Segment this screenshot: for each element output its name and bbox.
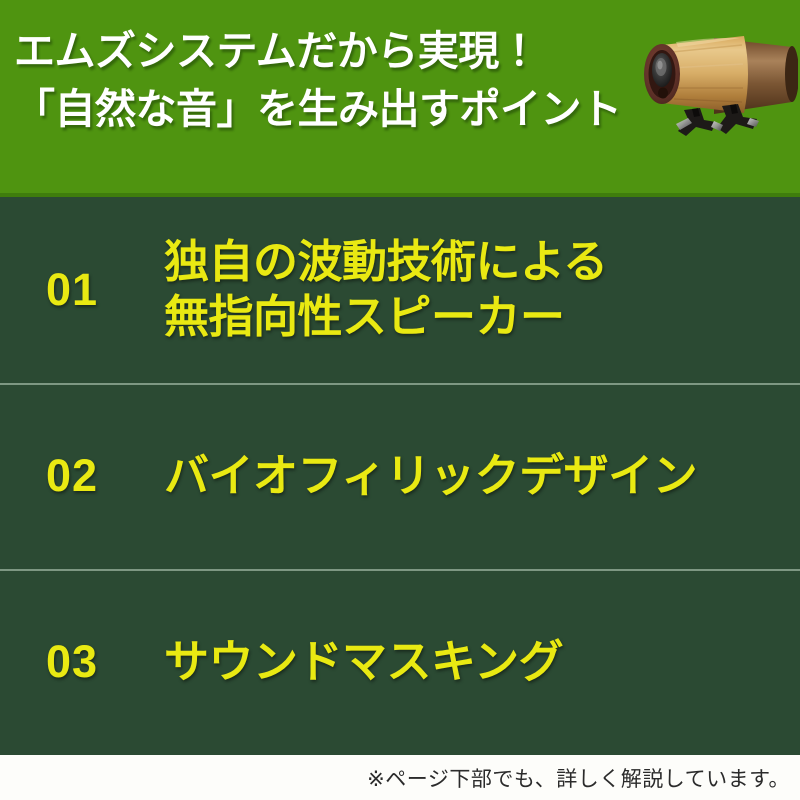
- feature-banner: エムズシステムだから実現！ 「自然な音」を生み出すポイント: [0, 0, 800, 800]
- feature-label-03-line-1: サウンドマスキング: [164, 635, 563, 690]
- header-heading: エムズシステムだから実現！ 「自然な音」を生み出すポイント: [14, 22, 622, 138]
- feature-number-01: 01: [46, 264, 164, 316]
- footer-note: ※ページ下部でも、詳しく解説しています。: [367, 763, 790, 793]
- feature-label-01-line-1: 独自の波動技術による: [164, 235, 608, 290]
- feature-number-02: 02: [46, 450, 164, 502]
- feature-label-03: サウンドマスキング: [164, 635, 563, 690]
- feature-label-01-line-2: 無指向性スピーカー: [164, 290, 608, 345]
- banner-footer: ※ページ下部でも、詳しく解説しています。: [0, 755, 800, 800]
- feature-item-02: 02 バイオフィリックデザイン: [0, 383, 800, 569]
- banner-header: エムズシステムだから実現！ 「自然な音」を生み出すポイント: [0, 0, 800, 197]
- feature-label-02: バイオフィリックデザイン: [164, 449, 697, 504]
- header-heading-line-1: エムズシステムだから実現！: [14, 22, 622, 80]
- feature-list: 01 独自の波動技術による 無指向性スピーカー 02 バイオフィリックデザイン …: [0, 197, 800, 755]
- header-heading-line-2: 「自然な音」を生み出すポイント: [14, 80, 622, 138]
- feature-item-03: 03 サウンドマスキング: [0, 569, 800, 755]
- feature-item-01: 01 独自の波動技術による 無指向性スピーカー: [0, 197, 800, 383]
- feature-label-02-line-1: バイオフィリックデザイン: [164, 449, 697, 504]
- feature-label-01: 独自の波動技術による 無指向性スピーカー: [164, 235, 608, 345]
- feature-number-03: 03: [46, 636, 164, 688]
- speaker-product-image: [626, 14, 798, 154]
